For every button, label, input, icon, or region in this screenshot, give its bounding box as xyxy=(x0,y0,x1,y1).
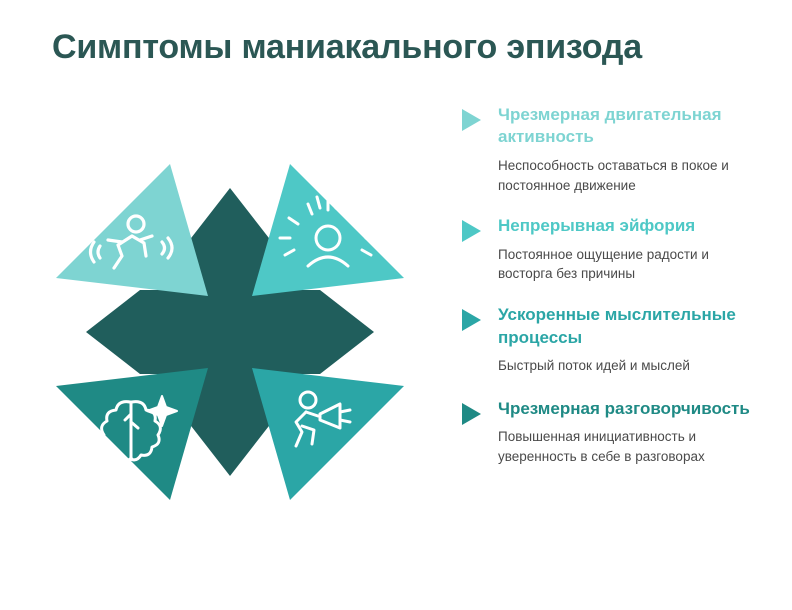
wedge-bottom-right xyxy=(252,368,404,500)
wedge-top-right xyxy=(252,164,404,296)
list-item: Ускоренные мыслительные процессы Быстрый… xyxy=(460,304,760,376)
triangle-bullet-icon xyxy=(462,403,481,425)
list-item: Непрерывная эйфория Постоянное ощущение … xyxy=(460,215,760,284)
wedge-top-left xyxy=(56,164,208,296)
symptom-heading: Непрерывная эйфория xyxy=(498,215,760,237)
symptom-description: Быстрый поток идей и мыслей xyxy=(498,356,750,376)
symptom-description: Неспособность оставаться в покое и посто… xyxy=(498,156,750,195)
symptom-heading: Ускоренные мыслительные процессы xyxy=(498,304,760,349)
symptom-heading: Чрезмерная двигательная активность xyxy=(498,104,760,149)
wedge-bottom-left xyxy=(56,368,208,500)
symptom-heading: Чрезмерная разговорчивость xyxy=(498,398,760,420)
list-item: Чрезмерная двигательная активность Неспо… xyxy=(460,104,760,195)
symptom-description: Повышенная инициативность и уверенность … xyxy=(498,427,750,466)
infographic-page: Симптомы маниакального эпизода xyxy=(0,0,792,610)
triangle-bullet-icon xyxy=(462,109,481,131)
list-item: Чрезмерная разговорчивость Повышенная ин… xyxy=(460,398,760,467)
triangle-bullet-icon xyxy=(462,309,481,331)
page-title: Симптомы маниакального эпизода xyxy=(52,28,752,67)
symptom-description: Постоянное ощущение радости и восторга б… xyxy=(498,245,750,284)
symptom-list: Чрезмерная двигательная активность Неспо… xyxy=(460,104,760,467)
triangle-bullet-icon xyxy=(462,220,481,242)
central-diagram xyxy=(40,150,420,550)
